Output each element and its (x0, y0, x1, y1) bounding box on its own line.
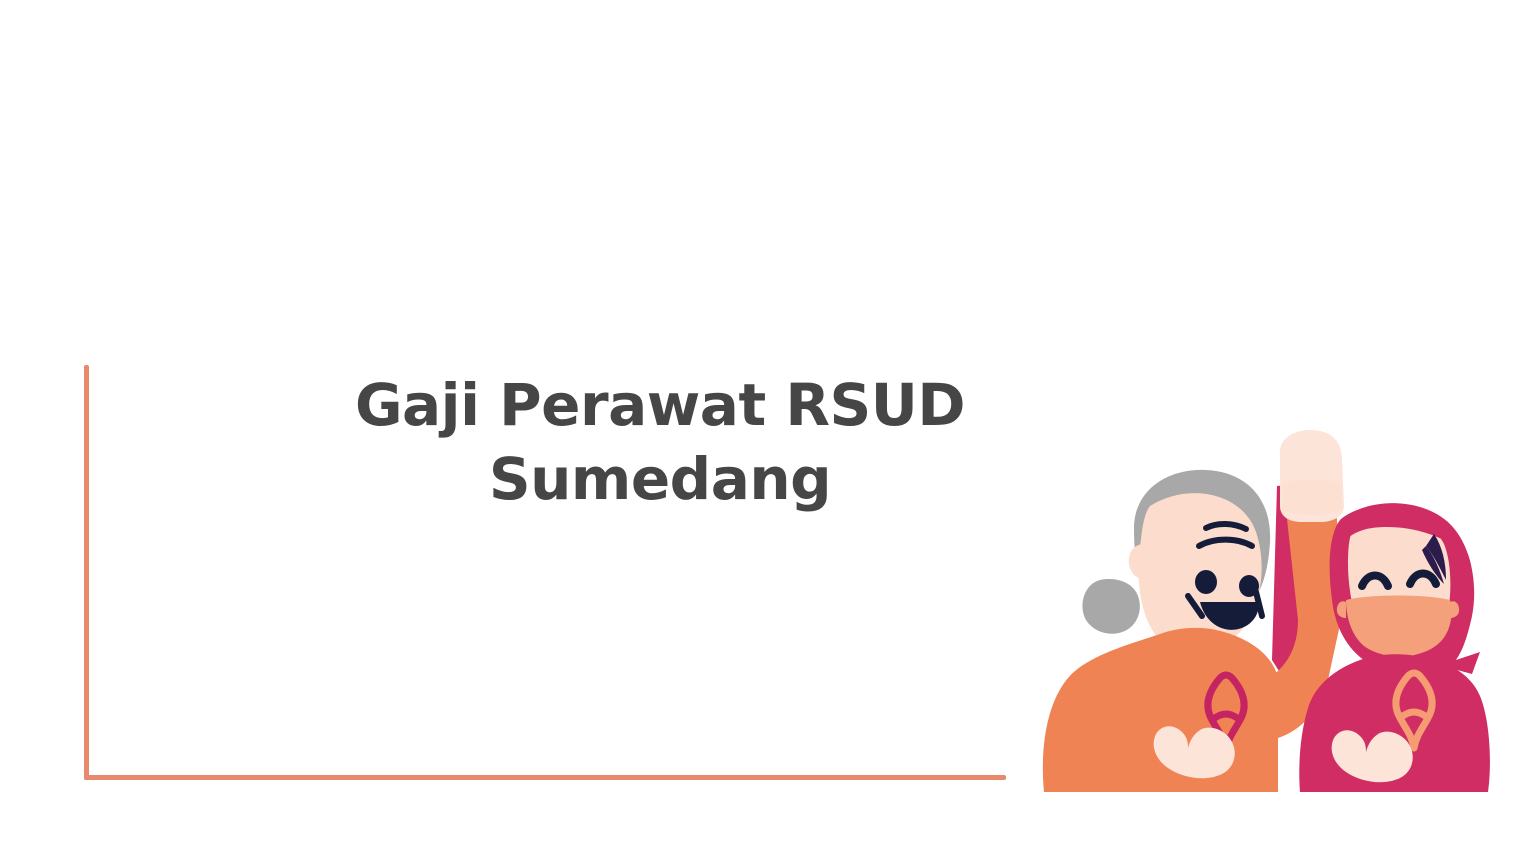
left-vertical-rule (84, 365, 89, 780)
slide-canvas: Gaji Perawat RSUD Sumedang (0, 0, 1536, 865)
page-title-line-2: Sumedang (330, 442, 990, 516)
page-title-line-1: Gaji Perawat RSUD (330, 368, 990, 442)
elderly-woman-fist (1280, 430, 1344, 522)
page-title: Gaji Perawat RSUD Sumedang (330, 368, 990, 516)
two-nurses-cheering-illustration (1010, 420, 1510, 820)
bottom-horizontal-rule (84, 775, 1006, 780)
